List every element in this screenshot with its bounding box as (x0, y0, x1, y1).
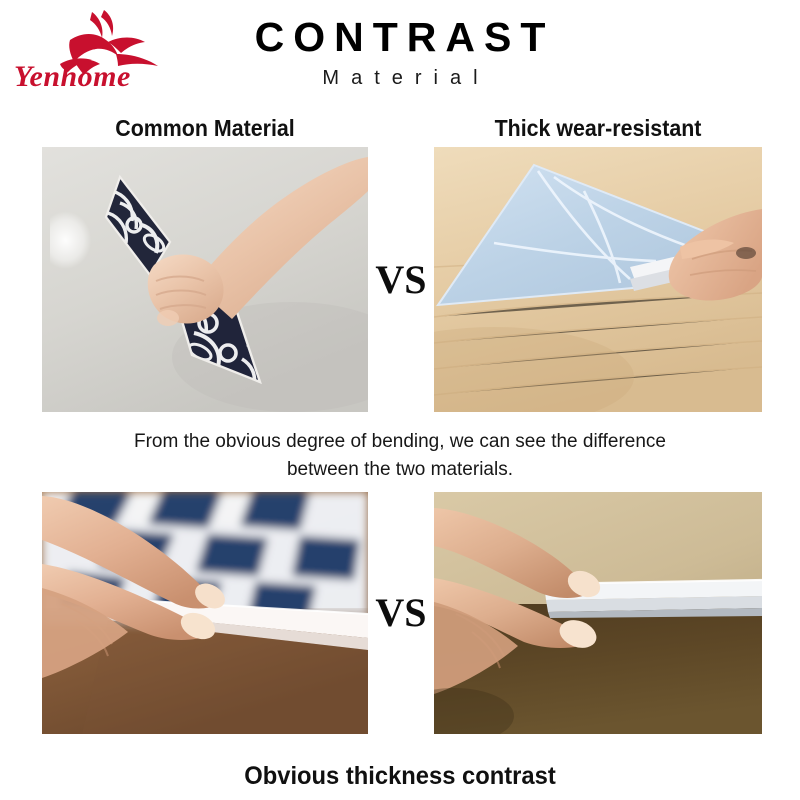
column-header-thick: Thick wear-resistant (445, 114, 750, 142)
photo-common-bending (42, 147, 368, 412)
thickness-caption: Obvious thickness contrast (20, 760, 780, 792)
photo-thick-thickness (434, 492, 762, 734)
photo-thick-bending (434, 147, 762, 412)
vs-badge-bottom: VS (368, 591, 434, 635)
photo-common-thickness (42, 492, 368, 734)
bending-caption: From the obvious degree of bending, we c… (100, 428, 700, 484)
vs-badge-top: VS (368, 258, 434, 302)
column-header-common: Common Material (53, 114, 356, 142)
page-title: CONTRAST Material (0, 14, 800, 93)
title-subtitle: Material (0, 63, 800, 93)
title-main: CONTRAST (0, 14, 800, 60)
